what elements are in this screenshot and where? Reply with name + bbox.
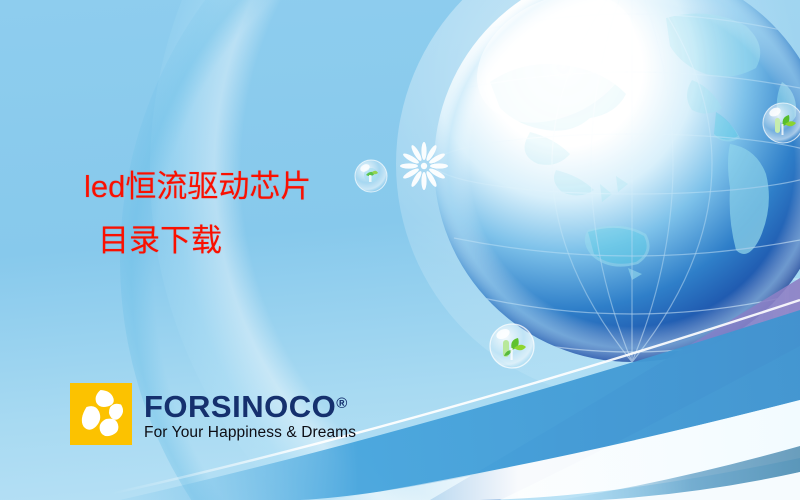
- headline-line-2: 目录下载: [84, 214, 414, 268]
- registered-mark: ®: [336, 395, 348, 412]
- brand-logo: FORSINOCO® For Your Happiness & Dreams: [70, 383, 356, 445]
- four-petal-pinwheel-icon: [70, 383, 132, 445]
- headline-line-1: led恒流驱动芯片: [84, 160, 414, 214]
- logo-name-text: FORSINOCO: [144, 389, 336, 424]
- logo-tagline: For Your Happiness & Dreams: [144, 424, 356, 442]
- promo-banner: led恒流驱动芯片 目录下载 FORSINOCO® For Your Happ: [0, 0, 800, 500]
- headline-block: led恒流驱动芯片 目录下载: [84, 160, 414, 268]
- logo-wordmark: FORSINOCO®: [144, 388, 356, 423]
- earth-globe-graphic: [430, 0, 800, 366]
